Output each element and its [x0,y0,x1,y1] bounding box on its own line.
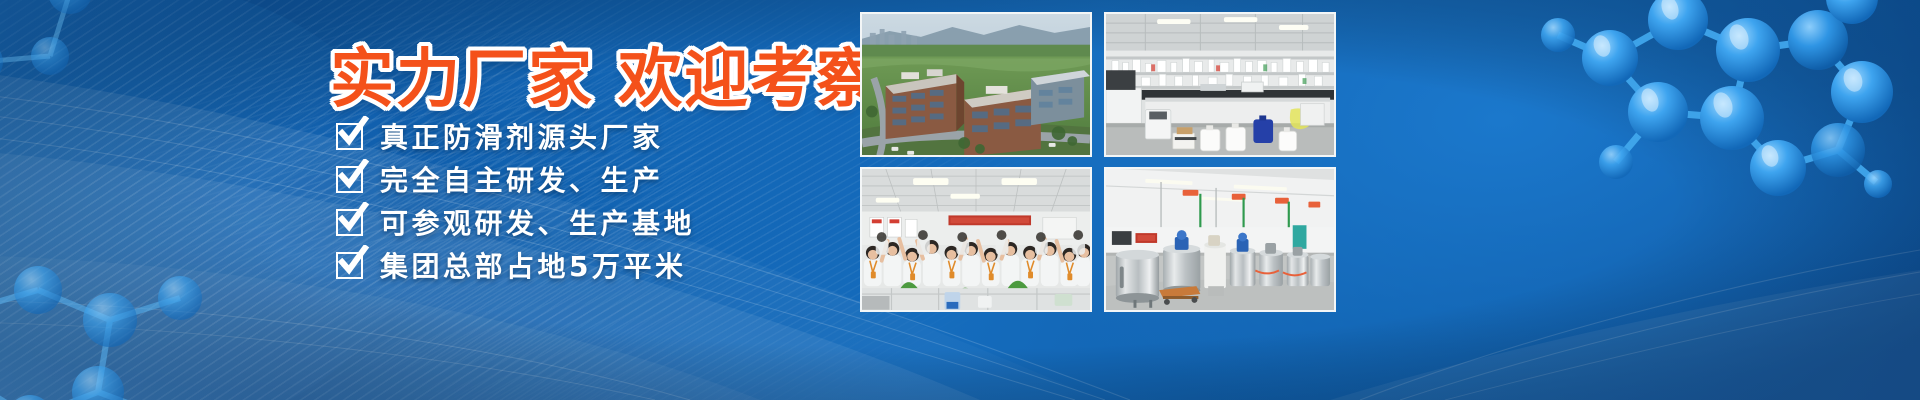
banner-headline: 实力厂家 欢迎考察 [330,28,882,120]
list-item-label: 真正防滑剂源头厂家 [380,116,664,156]
laboratory-photo [1104,12,1336,157]
list-item: 集团总部占地5万平米 [336,244,695,286]
check-icon [336,252,363,279]
list-item: 完全自主研发、生产 [336,158,695,200]
feature-list: 真正防滑剂源头厂家 完全自主研发、生产 可参观研发、生产基地 集团总部占地5万平… [336,115,695,287]
list-item-label: 可参观研发、生产基地 [380,202,695,242]
aerial-factory-campus-photo [860,12,1092,157]
list-item: 可参观研发、生产基地 [336,201,695,243]
check-icon [336,123,363,150]
list-item-label: 完全自主研发、生产 [380,159,664,199]
list-item: 真正防滑剂源头厂家 [336,115,695,157]
promo-banner: 实力厂家 欢迎考察 真正防滑剂源头厂家 完全自主研发、生产 可参观研发、生产基地 [0,0,1920,400]
office-team-photo [860,167,1092,312]
production-workshop-photo [1104,167,1336,312]
list-item-label: 集团总部占地5万平米 [380,245,686,285]
check-icon [336,209,363,236]
facility-photo-grid [860,12,1360,388]
check-icon [336,166,363,193]
